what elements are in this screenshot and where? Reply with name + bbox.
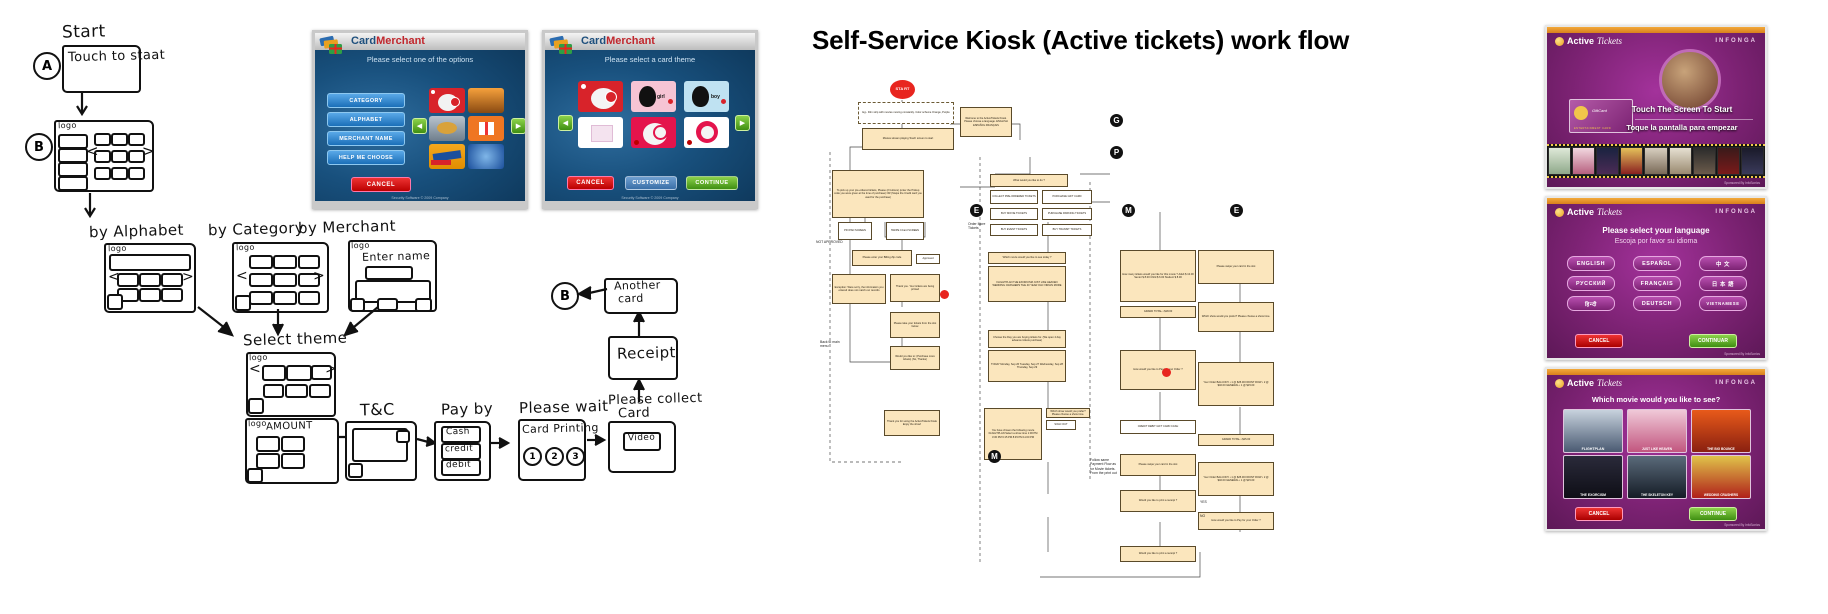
movie-title: JUST LIKE HEAVEN [1628, 447, 1686, 451]
sketch-label-credit: credit [445, 444, 473, 455]
sketch-label-amount: AMOUNT [266, 420, 313, 432]
kiosk-next-arrow-icon[interactable]: ▶ [735, 115, 750, 131]
sketch-next-arrow-icon: > [325, 361, 338, 377]
language-button-chinese[interactable]: 中 文 [1699, 256, 1747, 271]
flow-box-pay-how: How would you like to Pay for your Order… [1120, 350, 1196, 390]
language-prompt-en: Please select your language [1547, 226, 1765, 235]
sketch-label-select-theme: Select theme [243, 329, 348, 350]
poster [1644, 147, 1667, 175]
poster [1596, 147, 1619, 175]
flow-box-zip: Please enter your Billing Zip code [852, 250, 912, 266]
kiosk-prev-arrow-icon[interactable]: ◀ [412, 118, 427, 134]
kiosk-title-suffix: Merchant [376, 35, 425, 47]
sketch-menu-item [58, 148, 88, 163]
flow-box-grandtotal-movie: GRAND TOTAL • $18.00 [1120, 306, 1196, 318]
sketch-theme-chip [309, 384, 331, 398]
sketch-card-chip [111, 133, 128, 146]
gift-cards-icon [318, 34, 352, 56]
sketch-scroll-icon [396, 430, 410, 443]
kiosk-button-help-me-choose[interactable]: HELP ME CHOOSE [327, 150, 405, 165]
sketch-card-chip [273, 273, 297, 287]
sketch-card-chip [111, 150, 128, 163]
flow-label-follow-same: Follow same Payment Flow as for Movie ti… [1090, 458, 1118, 476]
sketch-card-chip [139, 273, 161, 287]
sketch-next-arrow-icon: > [182, 269, 195, 285]
card-tile-gift[interactable] [468, 116, 504, 141]
language-button-deutsch[interactable]: DEUTSCH [1633, 296, 1681, 311]
poster [1669, 147, 1692, 175]
sketch-card-chip [111, 167, 128, 180]
sketch-card-chip [139, 288, 161, 302]
flow-box-buy-event: BUY EVENT TICKETS [990, 224, 1038, 236]
sketch-label-collect-card: Card [618, 406, 650, 422]
flow-box-swipe: SWIPE CCard SCREEN [886, 222, 924, 240]
logo-text-tickets: Tickets [1597, 378, 1622, 388]
card-tile-home-depot[interactable] [468, 88, 504, 113]
sketch-label-logo-menu: logo [58, 121, 77, 130]
sketch-amount-chip [256, 453, 280, 469]
sketch-close-icon [107, 294, 123, 310]
kiosk-screenshot-options: CardMerchant Please select one of the op… [312, 30, 528, 209]
active-tickets-logo: Active Tickets [1555, 36, 1622, 46]
flow-box-exception: Exception: Were sorry, the information y… [832, 274, 886, 304]
kiosk-workflow-flowchart: STA RT Eg:- Film strip with movies movin… [790, 62, 1330, 614]
theme-tile-target-dog[interactable] [578, 81, 623, 112]
logo-text-active: Active [1567, 207, 1594, 217]
sketch-arrow-receipt-to-another [630, 310, 650, 338]
flow-box-which-movie: Which movie would you like to see today … [988, 252, 1066, 264]
movie-title: FLIGHTPLAN [1564, 447, 1622, 451]
flow-box-pinpad: PIN PAD SCREEN [838, 222, 872, 240]
card-tile-blockbuster[interactable] [429, 144, 465, 169]
logo-dot-icon [1555, 208, 1564, 217]
theme-label-boy: boy [711, 94, 720, 100]
movies-continue-button[interactable]: CONTINUE [1689, 507, 1737, 521]
theme-label-girl: girl [657, 94, 665, 100]
flow-box-swipe-card: Please swipe your card in the slot [1120, 454, 1196, 476]
sketch-close-icon [248, 398, 264, 414]
flow-box-attract: Movies stream playing Touch screen to st… [862, 128, 954, 150]
movie-poster-big-bounce[interactable]: THE BIG BOUNCE [1691, 409, 1751, 453]
movie-title: WEDDING CRASHERS [1692, 493, 1750, 497]
sketch-arrow-collect-to-receipt [630, 378, 650, 404]
flow-label-order-more: Order More Tickets [968, 222, 990, 231]
sketch-step-1: 1 [523, 447, 542, 466]
sketch-label-enter-name: Enter name [362, 249, 431, 264]
flow-box-approved: Approved [916, 254, 940, 264]
flow-box-parking-swipe: Please swipe your card in the slot [1198, 250, 1274, 284]
sketch-menu-item [58, 134, 88, 149]
kiosk-prev-arrow-icon[interactable]: ◀ [558, 115, 573, 131]
language-button-vietnamese[interactable]: VIETNAMESE [1699, 296, 1747, 311]
sketch-card-chip [128, 167, 145, 180]
flow-box-receipt-q: Would you like to print a receipt ? [1120, 490, 1196, 512]
sketch-card-chip [161, 288, 183, 302]
movie-poster-exorcism[interactable]: THE EXORCISM [1563, 455, 1623, 499]
flow-box-pickup: To pick up your pre-ordered tickets, Ple… [832, 170, 924, 218]
theme-tile-boy[interactable]: boy [684, 81, 729, 112]
sketch-amount-chip [256, 436, 280, 452]
kiosk-title-prefix: Card [351, 35, 376, 47]
flow-node-p: P [1110, 146, 1123, 159]
flow-box-pay-methods: CREDIT DEBIT GIFT CARD CASH [1120, 420, 1196, 434]
active-tickets-logo: Active Tickets [1555, 378, 1622, 388]
movie-poster-flightplan[interactable]: FLIGHTPLAN [1563, 409, 1623, 453]
movies-cancel-button[interactable]: CANCEL [1575, 507, 1623, 521]
page-title: Self-Service Kiosk (Active tickets) work… [812, 25, 1349, 56]
sketch-marker-b-return: B [551, 282, 579, 310]
flow-box-collect-pre: COLLECT PRE-ORDERED TICKETS [990, 190, 1038, 204]
kiosk-footer: Security Software © 2009 Company [545, 196, 755, 200]
sketch-menu-item [58, 162, 88, 177]
active-tickets-language-screen: Active Tickets INFONGA Please select you… [1547, 198, 1765, 358]
language-button-hindi[interactable]: हिन्दी [1567, 296, 1615, 311]
logo-dot-icon [1555, 37, 1564, 46]
flow-box-soldout: SOLD OUT [1046, 420, 1076, 430]
movie-poster-wedding-crashers[interactable]: WEDDING CRASHERS [1691, 455, 1751, 499]
flow-box-parking-select: Which show would you prefer? Please choo… [1198, 302, 1274, 332]
flow-label-no: NO [1200, 514, 1205, 518]
language-prompt-es: Escoja por favor su idioma [1547, 238, 1765, 245]
top-accent-bar [1547, 369, 1765, 375]
poster [1548, 147, 1571, 175]
theme-tile-girl[interactable]: girl [631, 81, 676, 112]
sketch-card-chip [249, 273, 273, 287]
movie-title: THE BIG BOUNCE [1692, 447, 1750, 451]
flow-box-buy-movie: BUY MOVIE TICKETS [990, 208, 1038, 220]
sketch-label-receipt: Receipt [617, 343, 676, 363]
kiosk-customize-button[interactable]: CUSTOMIZE [625, 176, 677, 190]
sketch-marker-b: B [25, 133, 53, 161]
poster [1717, 147, 1740, 175]
sketch-alphabet-strip [109, 254, 191, 271]
sketch-label-cash: Cash [446, 427, 470, 438]
flow-node-m-top: M [1122, 204, 1135, 217]
logo-text-tickets: Tickets [1597, 36, 1622, 46]
sketch-theme-chip [263, 384, 284, 398]
flow-box-parking-pay: How would you like to Pay for your Order… [1198, 512, 1274, 530]
active-tickets-attract-screen: Active Tickets INFONGA GiftCard ENTERTAI… [1547, 27, 1765, 187]
brand-infonga: INFONGA [1715, 38, 1757, 44]
sketch-text-input [365, 266, 413, 280]
sponsor-footer: Sponsored By InfoSonics [1724, 181, 1760, 185]
attract-line-2: Toque la pantalla para empezar [1547, 123, 1765, 132]
flow-box-purchase-gift: PURCHASE GIFT CARD [1042, 190, 1092, 204]
sketch-prev-arrow-icon: < [108, 269, 121, 285]
sketch-label-logo-merchant: logo [351, 241, 370, 250]
poster [1620, 147, 1643, 175]
sketch-theme-chip [262, 365, 286, 381]
sketch-card-chip [249, 291, 273, 305]
kiosk-button-alphabet[interactable]: ALPHABET [327, 112, 405, 127]
flow-box-what-like: What would you like to do ? [990, 174, 1068, 187]
active-tickets-movies-screenshot: Active Tickets INFONGA Which movie would… [1545, 367, 1767, 531]
sketch-label-logo-alphabet: logo [108, 244, 127, 253]
flow-box-would-you-like: Would you like to: (Purchase more ticket… [890, 346, 940, 370]
sketch-arrow-b-to-browse [78, 192, 108, 222]
language-cancel-button[interactable]: CANCEL [1575, 334, 1623, 348]
sketch-close-icon [247, 468, 263, 483]
movies-prompt: Which movie would you like to see? [1547, 395, 1765, 404]
flow-box-days: TODAY Monday, Sep 26 Tuesday, Sep 27 Wed… [988, 350, 1066, 382]
flow-box-welcome: Welcome to the ActiveTickets Kiosk. Plea… [960, 107, 1012, 137]
kiosk-theme-cancel-button[interactable]: CANCEL [567, 176, 614, 190]
hand-drawn-sketch-panel: A Start Touch to staat B logo < > by Alp… [0, 0, 790, 614]
sketch-label-by-category: by Category [208, 219, 305, 240]
sketch-label-pay-by: Pay by [441, 399, 493, 418]
flow-label-not-approved: NOT APPROVED [816, 240, 843, 244]
flow-box-attract-note: Eg:- Film strip with movies moving const… [858, 102, 954, 124]
logo-dot-icon [1555, 379, 1564, 388]
sketch-next-arrow-icon: > [313, 268, 326, 284]
sketch-amount-chip [281, 436, 305, 452]
sketch-step-2: 2 [545, 447, 564, 466]
flow-label-yes: YES [1200, 500, 1207, 504]
gift-cards-icon [548, 34, 582, 56]
kiosk-subtitle: Please select one of the options [315, 55, 525, 64]
sketch-card-chip [94, 167, 111, 180]
movie-still-circle [1659, 49, 1721, 111]
flow-start-node: STA RT [890, 80, 915, 99]
sketch-card-chip [298, 255, 320, 269]
sketch-theme-chip [286, 365, 312, 381]
language-button-francais[interactable]: FRANÇAIS [1633, 276, 1681, 291]
sketch-close-icon [348, 463, 363, 478]
kiosk-footer: Security Software © 2009 Company [315, 196, 525, 200]
poster [1693, 147, 1716, 175]
sketch-label-start: Start [62, 21, 106, 42]
movie-poster-skeleton-key[interactable]: THE SKELETON KEY [1627, 455, 1687, 499]
language-button-japanese[interactable]: 日 本 語 [1699, 276, 1747, 291]
flow-node-e-right: E [1230, 204, 1243, 217]
theme-tile-white-dog[interactable] [684, 117, 729, 148]
sketch-label-logo-amount: logo [248, 419, 267, 428]
sketch-card-chip [249, 255, 273, 269]
sketch-label-please-wait: Please wait [519, 397, 609, 417]
kiosk-button-merchant-name[interactable]: MERCHANT NAME [327, 131, 405, 146]
sketch-amount-chip [281, 453, 305, 469]
kiosk-cancel-button[interactable]: CANCEL [351, 177, 411, 192]
sketch-arrow-payby-to-wait [490, 436, 514, 452]
language-button-espanol[interactable]: ESPAÑOL [1633, 256, 1681, 271]
flow-marker-red-1 [940, 290, 949, 299]
kiosk-title: CardMerchant [581, 35, 655, 47]
sketch-label-by-alphabet: by Alphabet [89, 221, 184, 241]
movie-poster-just-like-heaven[interactable]: JUST LIKE HEAVEN [1627, 409, 1687, 453]
kiosk-theme-screen: CardMerchant Please select a card theme … [545, 33, 755, 201]
top-accent-bar [1547, 198, 1765, 204]
flow-box-choose-day: Choose the Day you are buying tickets fo… [988, 330, 1066, 348]
card-tile-target-dog[interactable] [429, 88, 465, 113]
sketch-theme-chip [285, 384, 308, 398]
flow-label-back-main: Back to main menu [820, 340, 844, 349]
logo-text-tickets: Tickets [1597, 207, 1622, 217]
kiosk-title: CardMerchant [351, 35, 425, 47]
flow-box-buy-transit: BUY TRANSIT TICKETS [1042, 224, 1092, 236]
sketch-arrow-alphabet-to-theme [196, 305, 242, 341]
kiosk-title-prefix: Card [581, 35, 606, 47]
sketch-prev-arrow-icon: < [236, 268, 249, 284]
card-tile-sears[interactable] [468, 144, 504, 169]
movie-filmstrip [1547, 144, 1765, 178]
sponsor-footer: Sponsored By InfoSonics [1724, 352, 1760, 356]
sketch-card-chip [117, 273, 139, 287]
active-tickets-logo: Active Tickets [1555, 207, 1622, 217]
sketch-label-touch-to-start: Touch to staat [68, 48, 165, 66]
sketch-marker-a: A [33, 52, 61, 80]
attract-line-1: Touch The Screen To Start [1547, 105, 1765, 114]
flow-node-e-left: E [970, 204, 983, 217]
kiosk-title-suffix: Merchant [606, 35, 655, 47]
sketch-label-video: Video [628, 433, 655, 444]
active-tickets-movies-screen: Active Tickets INFONGA Which movie would… [1547, 369, 1765, 529]
flow-box-purchase-parking: PURCHASE PARKING TICKETS [1042, 208, 1092, 220]
active-tickets-attract-screenshot: Active Tickets INFONGA GiftCard ENTERTAI… [1545, 25, 1767, 189]
sketch-prev-arrow-icon: < [86, 142, 99, 160]
sketch-menu-item [58, 176, 88, 191]
sketch-label-tnc: T&C [360, 400, 395, 420]
kiosk-continue-button[interactable]: CONTINUE [686, 176, 738, 190]
language-button-english[interactable]: ENGLISH [1567, 256, 1615, 271]
language-button-russian[interactable]: РУССКИЙ [1567, 276, 1615, 291]
theme-tile-cake[interactable] [578, 117, 623, 148]
top-accent-bar [1547, 27, 1765, 33]
movie-title: THE EXORCISM [1564, 493, 1622, 497]
movie-title: THE SKELETON KEY [1628, 493, 1686, 497]
sketch-label-debit: debit [446, 460, 471, 471]
sketch-card-chip [298, 291, 320, 305]
flow-node-m-bottom: M [988, 450, 1001, 463]
brand-infonga: INFONGA [1715, 380, 1757, 386]
poster [1741, 147, 1764, 175]
kiosk-subtitle: Please select a card theme [545, 55, 755, 64]
kiosk-options-screen: CardMerchant Please select one of the op… [315, 33, 525, 201]
divider [1635, 119, 1753, 120]
active-tickets-language-screenshot: Active Tickets INFONGA Please select you… [1545, 196, 1767, 360]
sketch-next-arrow-icon: > [142, 142, 155, 160]
kiosk-button-category[interactable]: CATEGORY [327, 93, 405, 108]
flow-box-print-receipt: Would you like to print a receipt ? [1120, 546, 1196, 562]
sketch-card-chip [161, 273, 183, 287]
brand-infonga: INFONGA [1715, 209, 1757, 215]
sketch-card-chip [273, 291, 297, 305]
sketch-ok-icon [415, 298, 432, 312]
logo-text-active: Active [1567, 36, 1594, 46]
sketch-arrow-a-to-b [70, 90, 100, 118]
flow-box-howmany: Which show would you prefer? Please choo… [1046, 408, 1090, 418]
language-continue-button[interactable]: CONTINUAR [1689, 334, 1737, 348]
flow-box-parking-order: Your Order BALCONY • 1 @ $25.00 FRONT RO… [1198, 462, 1274, 496]
kiosk-next-arrow-icon[interactable]: ▶ [511, 118, 525, 134]
sketch-step-3: 3 [566, 447, 585, 466]
flow-box-thankyou-kiosk: Thank you for using the ActiveTickets Ki… [884, 410, 940, 436]
sketch-card-chip [273, 255, 297, 269]
sketch-arrow-wait-to-collect [586, 433, 610, 449]
flow-box-parking-total: GRAND TOTAL • $25.00 [1198, 434, 1274, 446]
sponsor-footer: Sponsored By InfoSonics [1724, 523, 1760, 527]
flow-box-thankyou-print: Thank you. Your tickets are being printe… [890, 274, 940, 302]
flow-box-parking-rates: Your Order BALCONY • 1 @ $25.00 FRONT RO… [1198, 362, 1274, 406]
flow-marker-red-2 [1162, 368, 1171, 377]
sketch-prev-arrow-icon: < [249, 361, 262, 377]
kiosk-screenshot-theme: CardMerchant Please select a card theme … [542, 30, 758, 209]
logo-text-active: Active [1567, 378, 1594, 388]
card-tile-bass-pro[interactable] [429, 116, 465, 141]
sketch-label-another-card-2: card [618, 292, 644, 306]
sketch-label-logo-category: logo [236, 243, 255, 252]
sketch-label-by-merchant: by Merchant [298, 217, 396, 238]
sketch-label-another-card-1: Another [614, 278, 661, 292]
flow-node-g: G [1110, 114, 1123, 127]
flow-box-movie-list: FLIGHTPLAN THE EXORCISM JUST LIKE HEAVEN… [988, 266, 1066, 302]
theme-tile-bullseye-dog[interactable] [631, 117, 676, 148]
flow-box-collect: Please take your tickets from the slot b… [890, 312, 940, 338]
poster [1572, 147, 1595, 175]
sketch-arrow-another-to-b [575, 284, 609, 302]
flow-box-tickets-qty: How many tickets would you like for this… [1120, 250, 1196, 302]
